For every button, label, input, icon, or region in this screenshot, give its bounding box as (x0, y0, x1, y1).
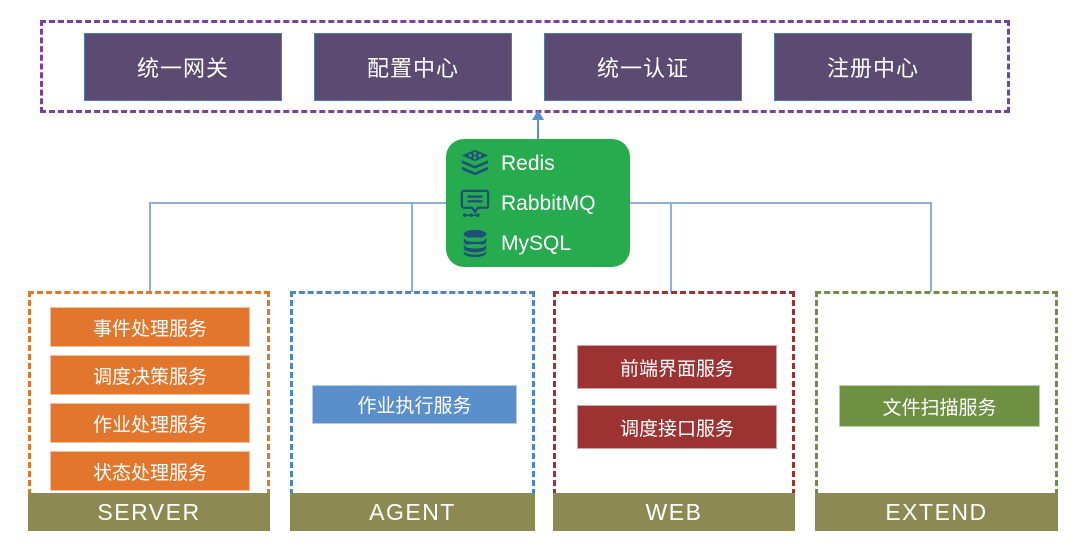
service-box-event-processing[interactable]: 事件处理服务 (50, 307, 250, 347)
platform-box-registry[interactable]: 注册中心 (774, 33, 972, 101)
group-footer-extend: EXTEND (815, 493, 1058, 531)
service-box-schedule-decision[interactable]: 调度决策服务 (50, 355, 250, 395)
group-web: 前端界面服务 调度接口服务 WEB (553, 291, 795, 531)
connector-bus-right (629, 202, 931, 204)
platform-box-label: 配置中心 (367, 51, 459, 83)
redis-stack-icon (460, 148, 490, 178)
service-label: 前端界面服务 (620, 354, 734, 381)
service-label: 作业处理服务 (93, 410, 207, 437)
platform-box-config-center[interactable]: 配置中心 (314, 33, 512, 101)
connector-bus-left (149, 202, 447, 204)
middleware-row-redis: Redis (460, 144, 630, 182)
connector-drop-web (670, 202, 672, 292)
platform-box-auth[interactable]: 统一认证 (544, 33, 742, 101)
group-footer-label: EXTEND (885, 499, 987, 526)
service-box-job-execution[interactable]: 作业执行服务 (312, 385, 517, 424)
service-box-file-scan[interactable]: 文件扫描服务 (839, 385, 1040, 427)
service-label: 事件处理服务 (93, 314, 207, 341)
platform-box-label: 统一认证 (597, 51, 689, 83)
connector-drop-agent (411, 202, 413, 292)
middleware-label: RabbitMQ (501, 193, 596, 214)
platform-box-label: 统一网关 (137, 51, 229, 83)
middleware-row-rabbitmq: RabbitMQ (460, 184, 630, 222)
platform-box-label: 注册中心 (827, 51, 919, 83)
service-box-frontend-ui[interactable]: 前端界面服务 (577, 345, 777, 389)
service-box-job-processing[interactable]: 作业处理服务 (50, 403, 250, 443)
middleware-label: MySQL (501, 233, 571, 254)
group-footer-label: WEB (646, 499, 703, 526)
middleware-label: Redis (501, 153, 555, 174)
middleware-row-mysql: MySQL (460, 224, 630, 262)
group-footer-server: SERVER (28, 493, 270, 531)
architecture-diagram: 统一网关 配置中心 统一认证 注册中心 (0, 0, 1080, 545)
service-label: 调度接口服务 (620, 414, 734, 441)
arrow-stem-middleware-to-platform (537, 118, 539, 140)
service-label: 文件扫描服务 (882, 393, 996, 420)
group-footer-agent: AGENT (290, 493, 535, 531)
group-agent: 作业执行服务 AGENT (290, 291, 535, 531)
group-footer-label: SERVER (97, 499, 200, 526)
service-box-schedule-api[interactable]: 调度接口服务 (577, 405, 777, 449)
service-box-state-processing[interactable]: 状态处理服务 (50, 451, 250, 491)
middleware-node[interactable]: Redis RabbitMQ (446, 139, 630, 267)
group-server: 事件处理服务 调度决策服务 作业处理服务 状态处理服务 SERVER (28, 291, 270, 531)
group-footer-label: AGENT (369, 499, 456, 526)
group-footer-web: WEB (553, 493, 795, 531)
arrow-head-middleware-to-platform (532, 110, 544, 120)
service-label: 状态处理服务 (93, 458, 207, 485)
service-label: 作业执行服务 (357, 391, 471, 418)
mysql-database-icon (460, 228, 490, 258)
connector-drop-server (149, 202, 151, 292)
connector-drop-extend (930, 202, 932, 292)
service-label: 调度决策服务 (93, 362, 207, 389)
rabbitmq-message-icon (460, 188, 490, 218)
group-extend: 文件扫描服务 EXTEND (815, 291, 1058, 531)
platform-box-gateway[interactable]: 统一网关 (84, 33, 282, 101)
